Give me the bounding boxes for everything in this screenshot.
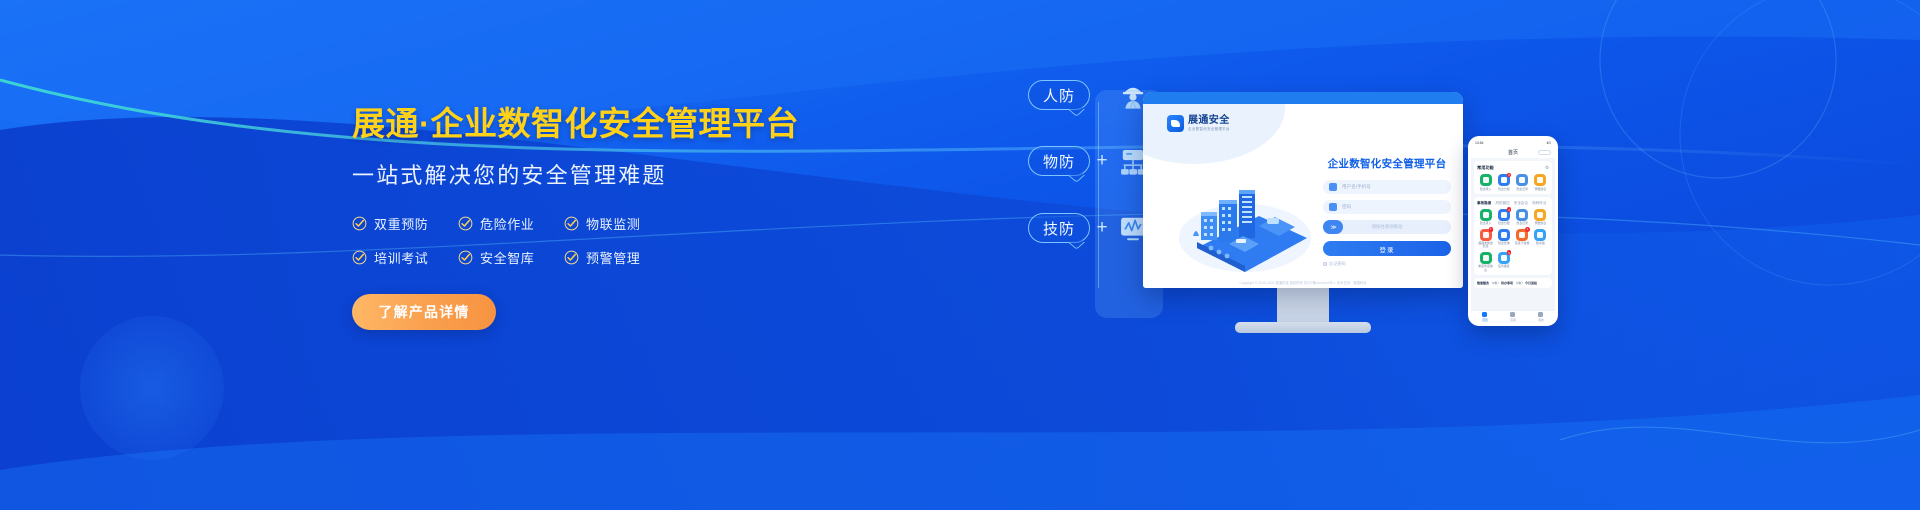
monitor-screen: 展通安全 企业数智化安全管理平台 (1143, 92, 1463, 288)
help-icon (1323, 262, 1327, 266)
feature-item: 安全智库 (458, 248, 564, 267)
badge-count: 4 (1525, 227, 1530, 232)
app-icon: 1 (1480, 229, 1492, 241)
phone-tab-bar: 首页 应用 我的 (1471, 310, 1555, 323)
section-title: 常用功能 (1477, 165, 1494, 171)
phone-screen: 13:54 4G 首页 常用功能 ⚙ (1471, 139, 1555, 323)
app-item[interactable]: 1 超期未整改隐患 (1477, 229, 1494, 249)
tab-meeting[interactable]: 安全会议 (1514, 201, 1528, 206)
feature-label: 预警管理 (586, 248, 640, 267)
check-circle-icon (564, 216, 579, 231)
pillar-label: 人防 (1028, 80, 1090, 110)
app-label: 随手拍 (1536, 242, 1545, 245)
pillar-label: 技防 (1028, 213, 1090, 243)
page-title: 展通·企业数智化安全管理平台 (352, 104, 822, 144)
app-label: 制度年度信息 (1477, 265, 1494, 272)
stat-item: 今日巡检 (1525, 281, 1549, 285)
search-icon (1501, 232, 1507, 238)
tabbar-label: 首页 (1482, 318, 1488, 322)
lock-icon (1329, 203, 1337, 211)
app-icon (1480, 174, 1492, 186)
feature-label: 安全智库 (480, 248, 534, 267)
feature-item: 物联监测 (564, 214, 670, 233)
feature-item: 预警管理 (564, 248, 670, 267)
app-item[interactable]: 隐患记录 (1514, 174, 1531, 191)
app-label: 隐患记录 (1516, 222, 1528, 225)
tab-special-work[interactable]: 特种作业 (1532, 201, 1546, 206)
camera-icon (1537, 232, 1543, 238)
person-icon (1538, 312, 1543, 317)
app-icon (1534, 209, 1546, 221)
stat-label: 隐患整改 (1477, 281, 1489, 285)
app-icon (1516, 209, 1528, 221)
check-circle-icon (458, 216, 473, 231)
login-form: 企业数智化安全管理平台 用户名/手机号 密码 请按住滑块拖动 ≫ (1323, 156, 1451, 267)
app-icon (1534, 229, 1546, 241)
app-item[interactable]: 2 隐患分配 (1495, 174, 1512, 191)
learn-more-button[interactable]: 了解产品详情 (352, 294, 496, 330)
tabbar-label: 应用 (1510, 318, 1516, 322)
background-decoration (0, 0, 1920, 510)
pillar-label: 物防 (1028, 146, 1090, 176)
badge-count: 9 (1507, 250, 1512, 255)
app-icon: 2 (1498, 174, 1510, 186)
task-icon (1501, 255, 1507, 261)
phone-section-common: 常用功能 ⚙ 隐患录入 2 (1474, 161, 1552, 194)
phone-status-bar: 13:54 4G (1471, 139, 1555, 147)
copyright-text: Copyright © 2015-2024 展通科技 版权所有 苏ICP备xxx… (1143, 280, 1463, 285)
mobile-phone-mockup: 13:54 4G 首页 常用功能 ⚙ (1468, 136, 1558, 326)
assign-icon (1501, 212, 1507, 218)
page-subtitle: 一站式解决您的安全管理难题 (352, 158, 822, 190)
tabbar-item-apps[interactable]: 应用 (1510, 312, 1516, 322)
app-item[interactable]: 预警信息 (1532, 209, 1549, 226)
app-icon: 2 (1498, 209, 1510, 221)
app-item[interactable]: 预警信息 (1532, 174, 1549, 191)
badge-count: 2 (1507, 173, 1512, 178)
feature-row: 培训考试 安全智库 预警管理 (352, 248, 672, 267)
app-icon: 9 (1498, 252, 1510, 264)
alert-icon (1537, 212, 1543, 218)
badge-count: 1 (1489, 227, 1494, 232)
alert-icon (1537, 177, 1543, 183)
tabbar-item-home[interactable]: 首页 (1482, 312, 1488, 322)
tab-risk[interactable]: 风险管控 (1495, 201, 1509, 206)
captcha-hint: 请按住滑块拖动 (1323, 224, 1451, 230)
app-icon (1480, 209, 1492, 221)
phone-stats-row: 隐患整改 （3条） 待办事项 （3条） 今日巡检 (1474, 278, 1552, 288)
app-item[interactable]: 9 任务报查 (1495, 252, 1512, 272)
app-item[interactable]: 4 复查不合格 (1514, 229, 1531, 249)
brand-name: 展通安全 (1188, 116, 1230, 126)
phone-nav-title: 首页 (1508, 149, 1518, 156)
check-circle-icon (564, 250, 579, 265)
badge-count: 2 (1507, 207, 1512, 212)
app-grid: 隐患录入 2 隐患分配 (1477, 174, 1549, 191)
tabbar-label: 我的 (1538, 318, 1544, 322)
app-icon: 4 (1516, 229, 1528, 241)
app-icon (1480, 252, 1492, 264)
login-submit-button[interactable]: 登录 (1323, 241, 1451, 256)
app-grid: 隐患录入 2 隐患分配 (1477, 209, 1549, 272)
app-item[interactable]: 制度年度信息 (1477, 252, 1494, 272)
recheck-icon (1519, 232, 1525, 238)
app-item[interactable]: 隐患查询 (1495, 229, 1512, 249)
app-item[interactable]: 隐患录入 (1477, 209, 1494, 226)
login-page: 展通安全 企业数智化安全管理平台 (1143, 104, 1463, 288)
grid-icon (1510, 312, 1515, 317)
edit-icon (1483, 212, 1489, 218)
phone-capsule-menu-icon[interactable] (1538, 150, 1551, 155)
logo-mark-icon (1167, 115, 1184, 132)
feature-item: 培训考试 (352, 248, 458, 267)
feature-list: 双重预防 危险作业 物联监测 (352, 214, 672, 267)
check-circle-icon (352, 250, 367, 265)
stat-value: （3条） (1490, 281, 1501, 285)
feature-row: 双重预防 危险作业 物联监测 (352, 214, 672, 233)
status-signal: 4G (1546, 141, 1551, 145)
slider-captcha[interactable]: 请按住滑块拖动 ≫ (1323, 220, 1451, 234)
password-placeholder: 密码 (1342, 204, 1351, 210)
hero-copy: 展通·企业数智化安全管理平台 一站式解决您的安全管理难题 双重预防 危险作业 (352, 104, 822, 330)
app-label: 复查不合格 (1515, 242, 1529, 245)
password-field[interactable]: 密码 (1323, 200, 1451, 214)
app-label: 隐患分配 (1498, 188, 1510, 191)
device-mockups: 展通安全 企业数智化安全管理平台 (1090, 60, 1610, 420)
app-label: 隐患记录 (1516, 188, 1528, 191)
app-label: 隐患查询 (1498, 242, 1510, 245)
section-tabs: 事故隐患 风险管控 安全会议 特种作业 (1477, 201, 1547, 206)
tab-hazard[interactable]: 事故隐患 (1477, 201, 1491, 206)
app-label: 隐患录入 (1480, 188, 1492, 191)
check-circle-icon (352, 216, 367, 231)
app-item[interactable]: 随手拍 (1532, 229, 1549, 249)
feature-label: 双重预防 (374, 214, 428, 233)
username-placeholder: 用户名/手机号 (1342, 184, 1371, 190)
stat-value: （3条） (1514, 281, 1525, 285)
check-circle-icon (458, 250, 473, 265)
feature-label: 培训考试 (374, 248, 428, 267)
desktop-monitor: 展通安全 企业数智化安全管理平台 (1143, 92, 1463, 333)
document-icon (1483, 255, 1489, 261)
stat-label: 待办事项 (1501, 281, 1513, 285)
gear-icon[interactable]: ⚙ (1545, 165, 1549, 171)
app-icon (1534, 174, 1546, 186)
feature-label: 物联监测 (586, 214, 640, 233)
record-icon (1519, 212, 1525, 218)
phone-nav-bar: 首页 (1471, 147, 1555, 158)
app-item[interactable]: 隐患记录 (1514, 209, 1531, 226)
app-item[interactable]: 2 隐患分配 (1495, 209, 1512, 226)
forgot-password-link[interactable]: 忘记密码 (1323, 261, 1451, 267)
feature-item: 危险作业 (458, 214, 564, 233)
app-label: 预警信息 (1535, 222, 1547, 225)
feature-label: 危险作业 (480, 214, 534, 233)
record-icon (1519, 177, 1525, 183)
forgot-password-label: 忘记密码 (1329, 261, 1346, 267)
user-icon (1329, 183, 1337, 191)
app-label: 预警信息 (1535, 188, 1547, 191)
city-illustration (1167, 176, 1317, 274)
monitor-stand-neck (1277, 288, 1329, 322)
feature-item: 双重预防 (352, 214, 458, 233)
app-label: 超期未整改隐患 (1477, 242, 1494, 249)
stat-item: 隐患整改 （3条） (1477, 281, 1501, 285)
app-icon (1498, 229, 1510, 241)
monitor-stand-base (1235, 322, 1371, 333)
app-label: 隐患录入 (1480, 222, 1492, 225)
tabbar-item-profile[interactable]: 我的 (1538, 312, 1544, 322)
status-time: 13:54 (1475, 141, 1484, 145)
overdue-icon (1483, 232, 1489, 238)
stat-item: 待办事项 （3条） (1501, 281, 1525, 285)
app-item[interactable]: 隐患录入 (1477, 174, 1494, 191)
brand-tagline: 企业数智化安全管理平台 (1188, 128, 1230, 132)
edit-icon (1483, 177, 1489, 183)
stat-label: 今日巡检 (1525, 281, 1537, 285)
login-title: 企业数智化安全管理平台 (1323, 156, 1451, 171)
app-label: 隐患分配 (1498, 222, 1510, 225)
phone-section-hazard: 事故隐患 风险管控 安全会议 特种作业 隐患录入 (1474, 197, 1552, 275)
brand-logo: 展通安全 企业数智化安全管理平台 (1167, 115, 1230, 132)
username-field[interactable]: 用户名/手机号 (1323, 180, 1451, 194)
app-icon (1516, 174, 1528, 186)
hero-banner: 展通·企业数智化安全管理平台 一站式解决您的安全管理难题 双重预防 危险作业 (0, 0, 1920, 510)
app-label: 任务报查 (1498, 265, 1510, 268)
decorative-blob (1143, 104, 1285, 164)
assign-icon (1501, 177, 1507, 183)
home-icon (1482, 312, 1487, 317)
browser-topbar (1143, 92, 1463, 104)
